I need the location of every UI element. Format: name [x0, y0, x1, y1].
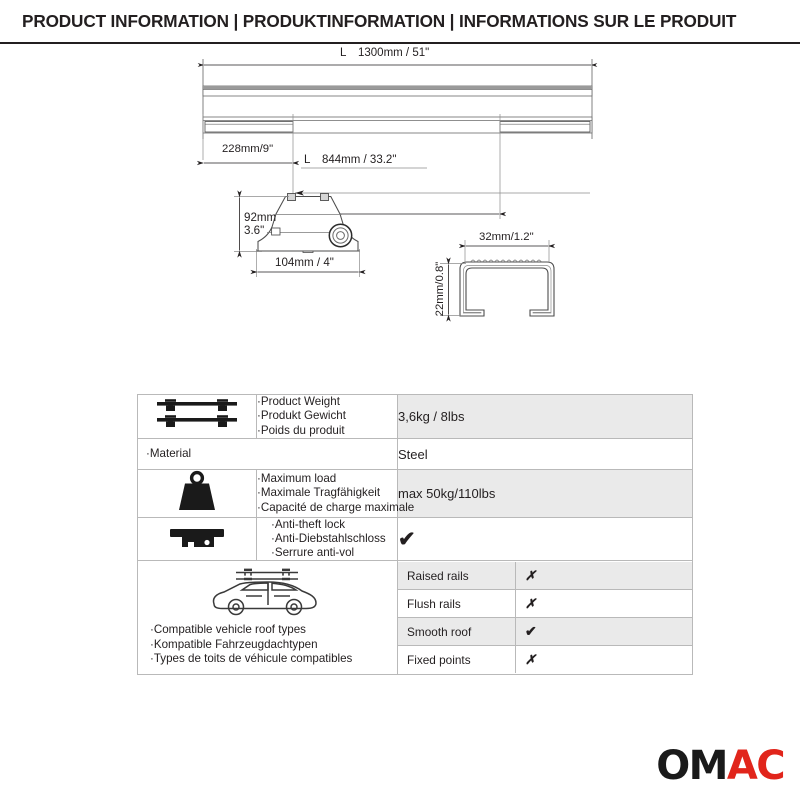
label-line: ·Anti-theft lock	[271, 518, 397, 532]
omac-logo: OMAC	[656, 746, 784, 786]
dim-profile-height-value: 22mm/0.8"	[434, 262, 446, 317]
dim-bar-span-symbol: L	[304, 154, 311, 166]
roof-rack-bars-icon-cell	[138, 395, 257, 439]
maximum-load-value: max 50kg/110lbs	[398, 470, 693, 518]
material-value: Steel	[398, 439, 693, 470]
compat-options-table: Raised rails ✗ Flush rails ✗ Smooth roof…	[398, 562, 692, 673]
table-row: ·Anti-theft lock ·Anti-Diebstahlschloss …	[138, 518, 693, 561]
table-row: ·Maximum load ·Maximale Tragfähigkeit ·C…	[138, 470, 693, 518]
label-line: ·Kompatible Fahrzeugdachtypen	[150, 638, 393, 652]
label-line: ·Maximum load	[257, 472, 397, 486]
weight-load-icon-cell	[138, 470, 257, 518]
compat-mark-raised-rails: ✗	[516, 562, 693, 590]
label-line: ·Serrure anti-vol	[271, 546, 397, 560]
table-row: ·Material Steel	[138, 439, 693, 470]
specification-table: ·Product Weight ·Produkt Gewicht ·Poids …	[137, 394, 693, 675]
maximum-load-labels: ·Maximum load ·Maximale Tragfähigkeit ·C…	[257, 470, 398, 518]
dim-foot-width-value: 104mm / 4"	[275, 256, 334, 269]
logo-text-red: AC	[727, 743, 784, 789]
label-line: ·Poids du produit	[257, 424, 397, 438]
dim-bar-overall-symbol: L	[340, 47, 347, 59]
list-item: Smooth roof ✔	[398, 618, 692, 646]
label-line: ·Maximale Tragfähigkeit	[257, 486, 397, 500]
weight-load-icon	[167, 470, 227, 514]
cross-icon: ✗	[525, 596, 536, 611]
anti-theft-value: ✔	[398, 518, 693, 561]
dim-foot-height-line1: 92mm	[244, 211, 276, 224]
label-line: ·Capacité de charge maximale	[257, 501, 397, 515]
page-header: PRODUCT INFORMATION | PRODUKTINFORMATION…	[0, 0, 800, 44]
label-line: ·Types de toits de véhicule compatibles	[150, 652, 393, 666]
roof-rack-bars-icon	[151, 395, 243, 435]
check-icon: ✔	[525, 623, 537, 639]
logo-text-dark: OM	[656, 743, 727, 789]
label-line: ·Anti-Diebstahlschloss	[271, 532, 397, 546]
dim-bar-span-value: 844mm / 33.2"	[322, 154, 396, 166]
compat-mark-flush-rails: ✗	[516, 590, 693, 618]
car-with-roof-rack-icon	[206, 567, 322, 619]
page-title: PRODUCT INFORMATION | PRODUKTINFORMATION…	[0, 11, 736, 32]
label-line: ·Product Weight	[257, 395, 397, 409]
dim-bar-overall-value: 1300mm / 51"	[358, 47, 429, 59]
table-row: ·Product Weight ·Produkt Gewicht ·Poids …	[138, 395, 693, 439]
dim-foot-height-line2: 3.6"	[244, 224, 264, 237]
compat-label-raised-rails: Raised rails	[398, 562, 516, 590]
table-row-compatibility: ·Compatible vehicle roof types ·Kompatib…	[138, 561, 693, 674]
list-item: Fixed points ✗	[398, 646, 692, 674]
label-line: ·Produkt Gewicht	[257, 409, 397, 423]
compat-mark-smooth-roof: ✔	[516, 618, 693, 646]
compat-description: ·Compatible vehicle roof types ·Kompatib…	[144, 561, 397, 673]
compat-description-cell: ·Compatible vehicle roof types ·Kompatib…	[138, 561, 398, 674]
compat-label-flush-rails: Flush rails	[398, 590, 516, 618]
anti-theft-labels: ·Anti-theft lock ·Anti-Diebstahlschloss …	[257, 518, 398, 561]
technical-drawings: L 1300mm / 51" 228mm/9" L	[0, 44, 800, 388]
label-line: ·Compatible vehicle roof types	[150, 623, 393, 637]
cross-icon: ✗	[525, 652, 536, 667]
compat-label-fixed-points: Fixed points	[398, 646, 516, 674]
rail-profile-cross-section	[460, 260, 554, 316]
cross-icon: ✗	[525, 568, 536, 583]
compat-label-smooth-roof: Smooth roof	[398, 618, 516, 646]
dim-profile-width-value: 32mm/1.2"	[479, 231, 534, 243]
drawings-svg: L 1300mm / 51" 228mm/9" L	[0, 44, 800, 388]
list-item: Flush rails ✗	[398, 590, 692, 618]
check-icon: ✔	[398, 529, 416, 550]
crossbar-side-view	[203, 86, 592, 96]
crossbar-plan-view	[203, 117, 592, 133]
anti-theft-lock-icon	[164, 521, 230, 555]
compat-options-cell: Raised rails ✗ Flush rails ✗ Smooth roof…	[398, 561, 693, 674]
list-item: Raised rails ✗	[398, 562, 692, 590]
anti-theft-lock-icon-cell	[138, 518, 257, 561]
dim-foot-offset-value: 228mm/9"	[222, 143, 273, 155]
product-weight-value: 3,6kg / 8lbs	[398, 395, 693, 439]
material-label: ·Material	[138, 439, 398, 470]
compat-mark-fixed-points: ✗	[516, 646, 693, 674]
product-weight-labels: ·Product Weight ·Produkt Gewicht ·Poids …	[257, 395, 398, 439]
